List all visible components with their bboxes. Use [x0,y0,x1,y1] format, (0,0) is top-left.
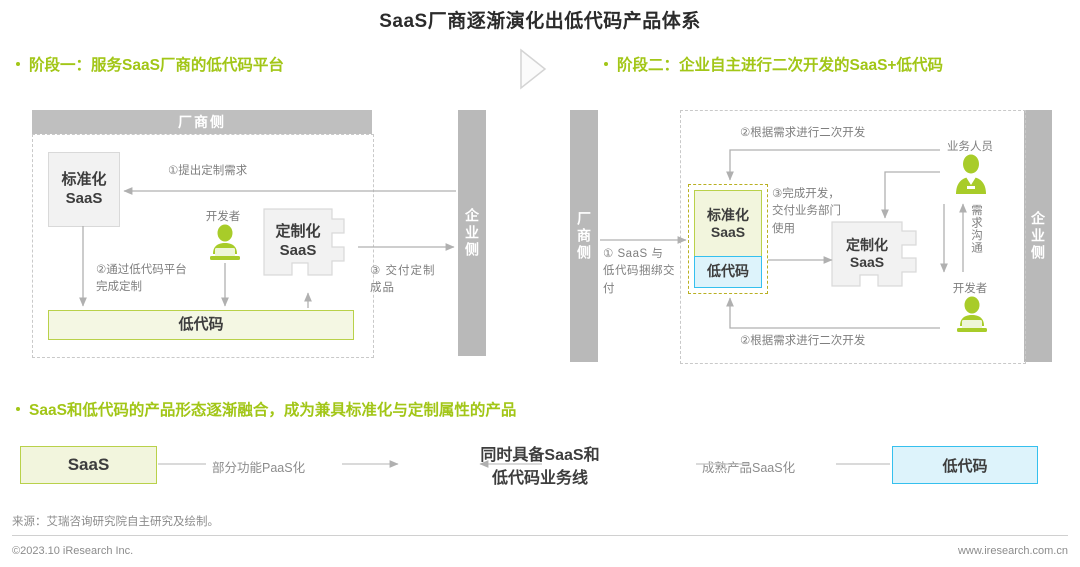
right-step3-caption: ③完成开发，交付业务部门使用 [772,186,846,238]
phase-2-label: 阶段二：企业自主进行二次开发的SaaS+低代码 [617,53,943,75]
bottom-connector-arrows [150,430,910,490]
copyright-text: ©2023.10 iResearch Inc. [12,545,133,557]
bullet-dot-icon [16,407,20,411]
right-step2-top-caption: ②根据需求进行二次开发 [740,125,865,142]
right-panel-diagram: 厂商侧 企业侧 标准化 SaaS 低代码 定制化 SaaS 业务人员 [540,100,1080,380]
right-communication-caption: 需求沟通 [968,204,984,274]
website-link[interactable]: www.iresearch.com.cn [958,545,1068,557]
left-step1-caption: ①提出定制需求 [168,163,247,180]
right-step2-bottom-caption: ②根据需求进行二次开发 [740,333,865,350]
footer-divider [12,535,1068,536]
bottom-headline-label: SaaS和低代码的产品形态逐渐融合，成为兼具标准化与定制属性的产品 [29,398,516,420]
slide-root: SaaS厂商逐渐演化出低代码产品体系 阶段一：服务SaaS厂商的低代码平台 阶段… [0,0,1080,567]
bottom-headline: SaaS和低代码的产品形态逐渐融合，成为兼具标准化与定制属性的产品 [16,398,516,420]
right-step1-caption: ① SaaS 与低代码捆绑交付 [603,246,675,298]
left-panel-arrows [0,0,540,380]
left-step3-caption: ③ 交付定制成品 [370,263,436,298]
phase-2-header: 阶段二：企业自主进行二次开发的SaaS+低代码 [604,53,943,75]
source-note: 来源：艾瑞咨询研究院自主研究及绘制。 [12,513,219,529]
bullet-dot-icon [604,62,608,66]
left-step2-caption: ②通过低代码平台完成定制 [96,262,188,297]
bottom-lowcode-box: 低代码 [892,446,1038,484]
left-panel-diagram: 厂商侧 企业侧 标准化 SaaS 定制化 SaaS 低代码 开发者 [0,0,540,280]
bottom-saas-box: SaaS [20,446,157,484]
